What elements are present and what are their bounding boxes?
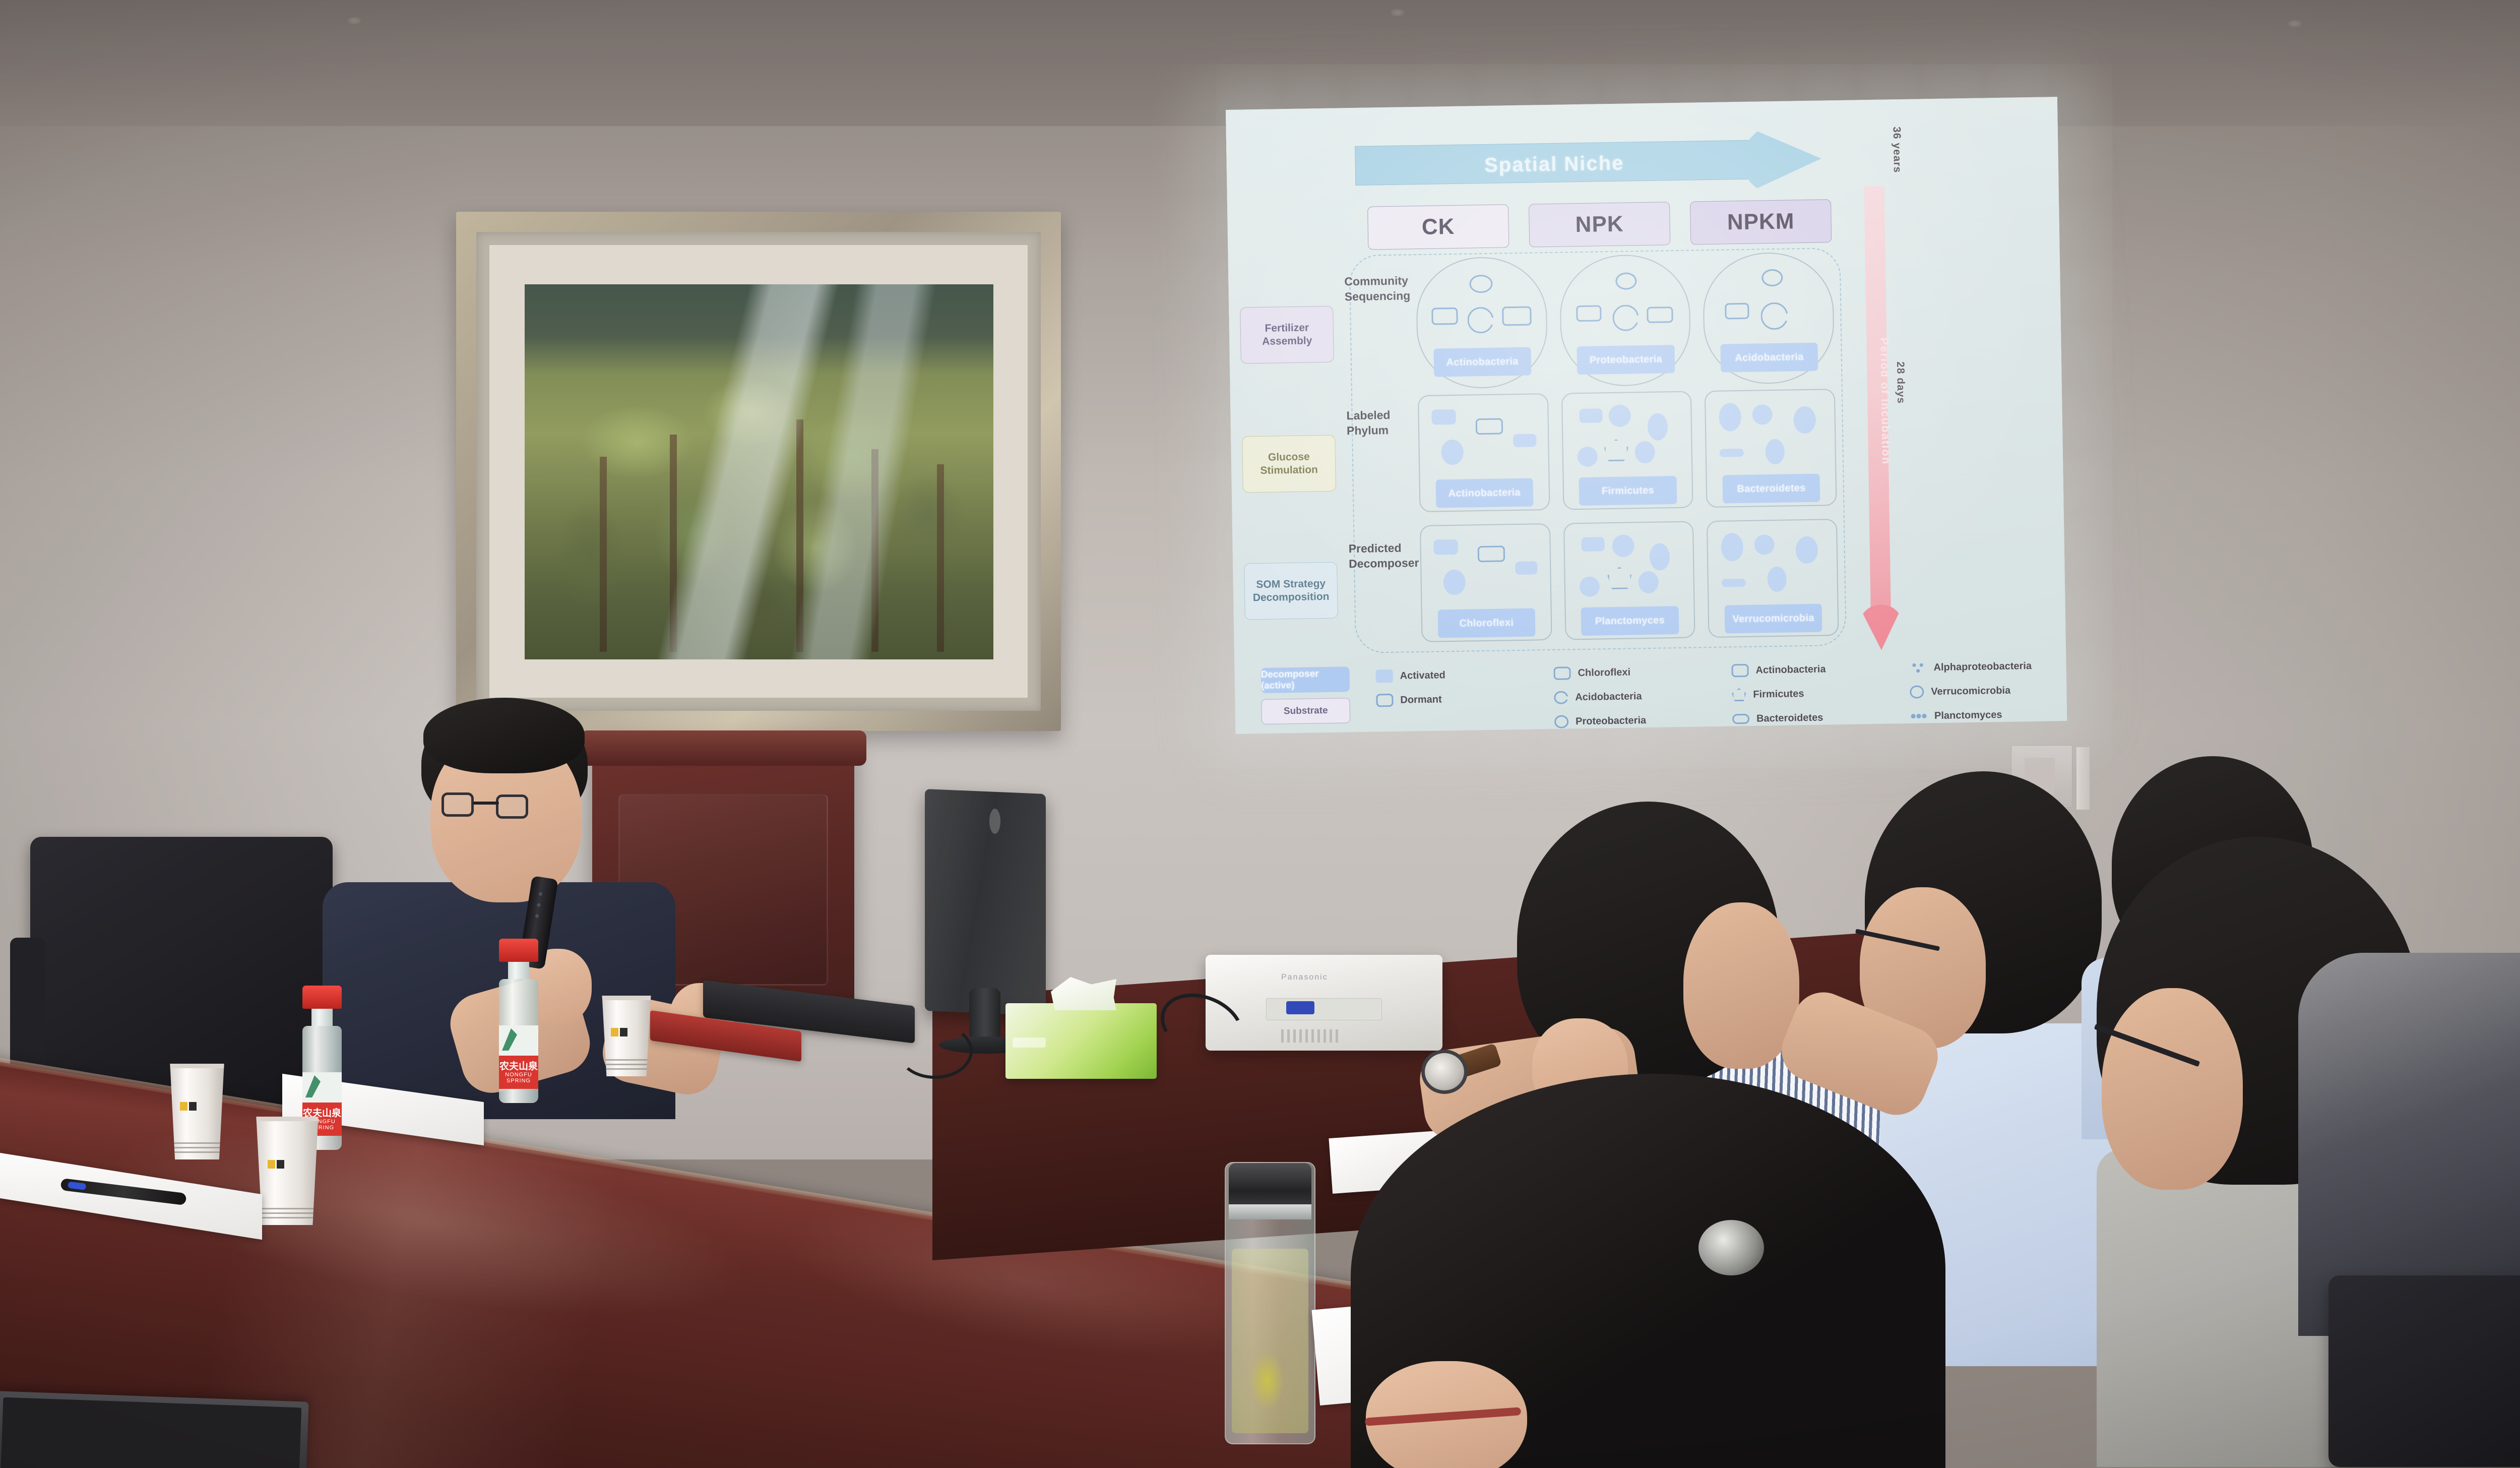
legend-item: Acidobacteria (1554, 685, 1728, 707)
rounded-square-outline-icon (1376, 694, 1393, 707)
presenter-glasses-left-lens (442, 792, 474, 817)
audience-chair[interactable] (2328, 1275, 2520, 1467)
laptop[interactable] (0, 1391, 309, 1468)
legend-label: Bacteroidetes (1756, 712, 1823, 724)
stage-tag-som: SOM Strategy Decomposition (1244, 562, 1338, 620)
legend-item: Dormant (1376, 688, 1550, 710)
legend-label: Dormant (1400, 694, 1442, 706)
tissue-box-logo (1013, 1037, 1046, 1048)
cluster-circle-icon (1910, 685, 1924, 698)
taxon-label: Actinobacteria (1433, 347, 1531, 377)
legend-item: Firmicutes (1732, 682, 1906, 705)
diagram-cell-ck: Actinobacteria (1418, 393, 1550, 512)
framed-painting (456, 212, 1061, 731)
circle-outline-icon (1554, 715, 1568, 728)
ceiling-fixture (2288, 20, 2301, 27)
capsule-outline-icon (1732, 714, 1749, 724)
diagram-cell-ck: Actinobacteria (1416, 256, 1548, 389)
legend-label: Firmicutes (1753, 688, 1804, 701)
legend-state-activated: Decomposer (active) (1261, 666, 1350, 693)
diagram-cell-npkm: Acidobacteria (1703, 252, 1835, 385)
ceiling-fixture (1391, 9, 1404, 16)
diagram-cell-ck: Chloroflexi (1420, 523, 1552, 642)
stage-tag-line1: Fertilizer (1265, 321, 1309, 335)
treatment-row: CK NPK NPKM (1367, 199, 1832, 250)
attendee-head (2102, 988, 2243, 1190)
thermos-lid (1229, 1163, 1311, 1209)
presenter-glasses-bridge (473, 802, 499, 805)
slide-content: Spatial Niche CK NPK NPKM Fertilizer Ass… (1226, 97, 2067, 734)
row-label-line1: Predicted (1348, 540, 1415, 557)
tissue-box (1005, 1003, 1157, 1079)
taxon-label: Actinobacteria (1435, 478, 1533, 508)
water-bottle[interactable]: 农夫山泉 NONGFU SPRING (499, 939, 538, 1103)
diagram-cell-npkm: Bacteroidetes (1705, 389, 1837, 508)
stage-tag-glucose: Glucose Stimulation (1242, 435, 1336, 493)
taxon-label: Chloroflexi (1437, 608, 1535, 638)
painting-mat (489, 245, 1028, 698)
diagram-row-predicted-decomposer: Chloroflexi Planctomyces (1420, 519, 1839, 642)
presenter-glasses-right-lens (496, 794, 528, 819)
legend-item: Activated (1375, 663, 1550, 686)
taxon-label: Verrucomicrobia (1724, 604, 1822, 634)
diagram-row-labeled-phylum: Actinobacteria Firmicutes (1418, 389, 1837, 512)
row-label-line2: Decomposer (1349, 556, 1415, 572)
painting-canvas (525, 284, 993, 659)
diagram-row-community-sequencing: Actinobacteria Proteobacteria Acidobacte… (1416, 252, 1835, 389)
row-label-predicted-decomposer: Predicted Decomposer (1348, 540, 1415, 572)
presenter-hair-top (423, 698, 585, 773)
incubation-period-label: Period of Incubation (1862, 337, 1893, 465)
stage-tag-line2: Stimulation (1260, 463, 1318, 477)
diagram-cell-npk: Proteobacteria (1559, 254, 1691, 387)
legend-item: Verrucomicrobia (1910, 679, 2067, 702)
bottle-cap (499, 939, 538, 962)
cluster-dots-icon (1909, 661, 1926, 675)
row-label-line1: Labeled (1346, 407, 1413, 423)
legend-label: Proteobacteria (1576, 715, 1646, 727)
meeting-room-photo: Spatial Niche CK NPK NPKM Fertilizer Ass… (0, 0, 2520, 1468)
taxon-label: Planctomyces (1581, 606, 1679, 636)
legend-item: Chloroflexi (1553, 661, 1728, 684)
hexagon-outline-icon (1732, 688, 1746, 701)
dots-trio-icon (1910, 709, 1927, 723)
paper-cup[interactable] (599, 996, 654, 1076)
legend-item: Alphaproteobacteria (1909, 655, 2067, 678)
diagram-cell-npk: Firmicutes (1561, 391, 1693, 510)
stage-tag-column: Fertilizer Assembly Glucose Stimulation … (1239, 260, 1339, 659)
stage-tag-line2: Assembly (1262, 334, 1312, 348)
legend-label: Planctomyces (1934, 709, 2002, 721)
row-label-line1: Community (1344, 273, 1411, 289)
legend-label: Alphaproteobacteria (1933, 660, 2032, 674)
stage-tag-line2: Decomposition (1253, 590, 1330, 605)
stage-tag-line1: SOM Strategy (1256, 577, 1326, 591)
time-mark-bottom: 28 days (1894, 361, 1907, 404)
legend-label: Chloroflexi (1578, 666, 1630, 679)
legend-item: Actinobacteria (1731, 658, 1906, 681)
taxon-label: Firmicutes (1579, 476, 1677, 506)
taxon-label: Proteobacteria (1577, 345, 1675, 375)
ceiling-fixture (348, 17, 361, 24)
painting-frame-inner (476, 232, 1041, 711)
treatment-npkm: NPKM (1690, 199, 1832, 244)
rounded-square-outline-icon (1731, 664, 1748, 678)
time-mark-top: 36 years (1891, 127, 1903, 173)
tea-thermos[interactable] (1225, 1162, 1315, 1444)
hair-tie (1698, 1220, 1764, 1275)
legend-label: Activated (1400, 669, 1445, 682)
attendee-foreground-woman (1351, 1074, 1945, 1468)
legend-label: Actinobacteria (1755, 663, 1825, 676)
row-label-line2: Phylum (1347, 422, 1413, 439)
desktop-monitor (925, 791, 1046, 1013)
taxon-label: Acidobacteria (1720, 343, 1818, 373)
jacket-on-chair (2298, 953, 2520, 1467)
rounded-rect-outline-icon (1553, 666, 1570, 680)
spatial-niche-arrow: Spatial Niche (1355, 131, 1824, 194)
legend-label: Acidobacteria (1575, 691, 1642, 703)
row-label-community-sequencing: Community Sequencing (1344, 273, 1411, 304)
stage-tag-line1: Glucose (1268, 450, 1310, 464)
slide-legend: Decomposer (active) Substrate Activated … (1249, 656, 2047, 729)
row-label-labeled-phylum: Labeled Phylum (1346, 407, 1413, 439)
projector-brand-label: Panasonic (1281, 973, 1328, 982)
paper-cup[interactable] (166, 1064, 228, 1159)
legend-symbol-grid: Activated Chloroflexi Actinobacteria Alp… (1375, 655, 2067, 733)
taxon-label: Bacteroidetes (1722, 474, 1820, 504)
pacman-outline-icon (1554, 691, 1568, 704)
projection-screen: Spatial Niche CK NPK NPKM Fertilizer Ass… (1226, 97, 2067, 734)
incubation-period-arrow: Period of Incubation (1861, 186, 1895, 650)
legend-label: Verrucomicrobia (1931, 685, 2010, 697)
bottle-cap (302, 986, 342, 1009)
bottle-brand-en: NONGFU SPRING (499, 1072, 538, 1084)
filled-square-icon (1375, 669, 1393, 683)
diagram-cell-npk: Planctomyces (1563, 521, 1695, 640)
row-label-line2: Sequencing (1345, 288, 1411, 304)
legend-state-substrate: Substrate (1261, 698, 1350, 724)
treatment-npk: NPK (1529, 202, 1670, 247)
stage-tag-fertilizer: Fertilizer Assembly (1240, 306, 1334, 364)
diagram-cell-npkm: Verrucomicrobia (1707, 519, 1839, 638)
paper-cup[interactable] (252, 1117, 323, 1225)
bottle-brand-zh: 农夫山泉 (499, 1059, 538, 1072)
treatment-ck: CK (1367, 204, 1509, 250)
